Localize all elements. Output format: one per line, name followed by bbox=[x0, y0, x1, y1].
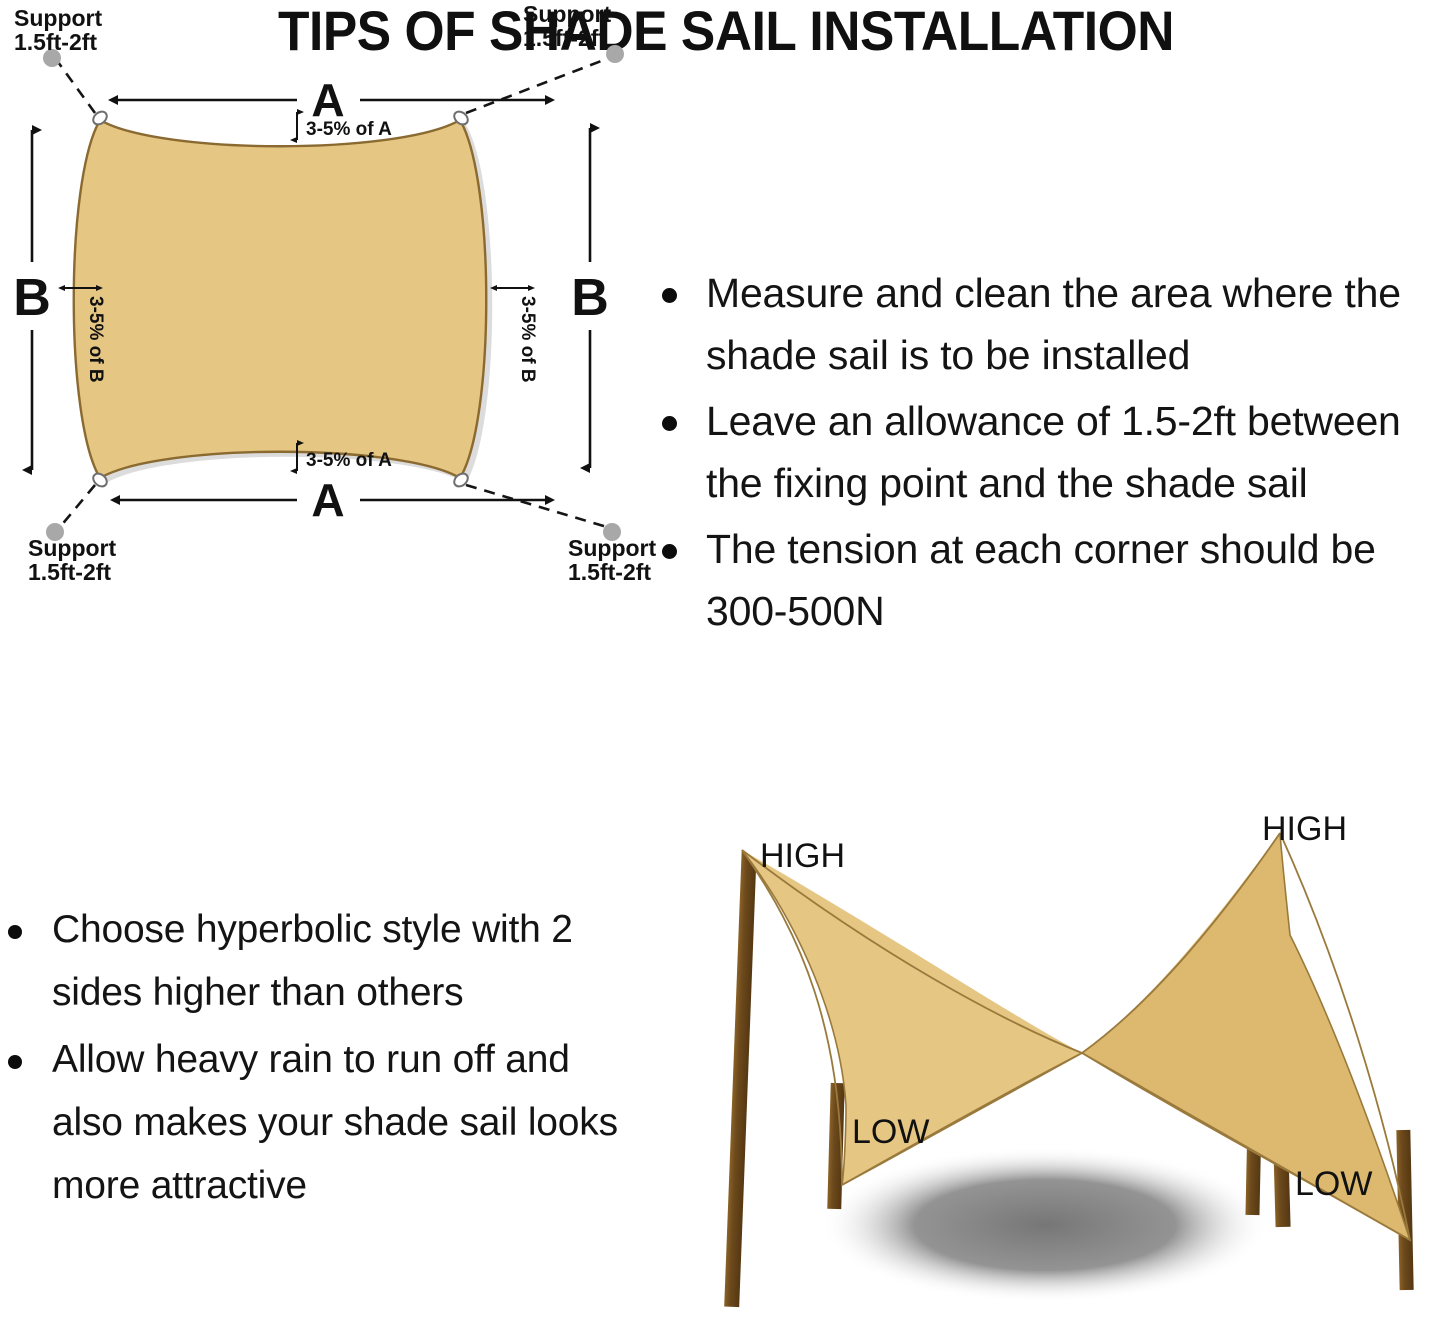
support-caption-line2: 1.5ft-2ft bbox=[14, 29, 97, 55]
leader-line bbox=[60, 485, 95, 527]
dimension-label-a-bottom: A bbox=[311, 474, 344, 526]
style-tips-panel: Choose hyperbolic style with 2 sides hig… bbox=[0, 898, 630, 1221]
support-caption-line1: Support bbox=[28, 535, 116, 561]
support-dot bbox=[606, 45, 624, 63]
support-caption-top-left: Support 1.5ft-2ft bbox=[14, 5, 102, 55]
curve-note-bottom-label: 3-5% of A bbox=[306, 450, 392, 471]
rectangular-sail-diagram: A 3-5% of A A 3-5% of A B 3-5% of B bbox=[0, 0, 660, 580]
list-item: The tension at each corner should be 300… bbox=[648, 518, 1452, 642]
installation-tips-list: Measure and clean the area where the sha… bbox=[648, 262, 1452, 642]
dimension-label-b-left: B bbox=[13, 269, 51, 327]
leader-line bbox=[58, 62, 95, 113]
list-item: Measure and clean the area where the sha… bbox=[648, 262, 1452, 386]
tip-text: The tension at each corner should be 300… bbox=[706, 526, 1376, 634]
style-tip-text: Choose hyperbolic style with 2 sides hig… bbox=[52, 908, 573, 1014]
curve-note-right: 3-5% of B bbox=[497, 288, 538, 383]
bullet-icon bbox=[662, 544, 677, 559]
label-low-left: LOW bbox=[852, 1113, 929, 1151]
dimension-width-bottom: A bbox=[120, 474, 545, 526]
style-tips-list: Choose hyperbolic style with 2 sides hig… bbox=[0, 898, 630, 1217]
hyperbolic-sail-diagram: HIGH HIGH LOW LOW bbox=[650, 785, 1452, 1325]
bullet-icon bbox=[8, 1055, 22, 1069]
support-caption-top-right: Support 1.5ft-2ft bbox=[523, 1, 611, 51]
shade-sail-shape bbox=[74, 120, 493, 483]
support-caption-line2: 1.5ft-2ft bbox=[523, 25, 606, 51]
post bbox=[724, 847, 757, 1307]
curve-note-right-label: 3-5% of B bbox=[517, 296, 538, 383]
leader-line bbox=[466, 485, 607, 527]
post-high-left bbox=[724, 847, 757, 1307]
dimension-height-right: B bbox=[571, 128, 609, 468]
support-caption-line1: Support bbox=[14, 5, 102, 31]
list-item: Leave an allowance of 1.5-2ft between th… bbox=[648, 390, 1452, 514]
sail-fabric bbox=[74, 120, 487, 478]
list-item: Choose hyperbolic style with 2 sides hig… bbox=[0, 898, 630, 1024]
bullet-icon bbox=[8, 925, 22, 939]
dimension-label-b-right: B bbox=[571, 269, 609, 327]
support-caption-line2: 1.5ft-2ft bbox=[568, 559, 651, 585]
installation-tips-panel: Measure and clean the area where the sha… bbox=[648, 262, 1452, 646]
post bbox=[827, 1083, 845, 1209]
dimension-height-left: B bbox=[13, 130, 51, 470]
tip-text: Leave an allowance of 1.5-2ft between th… bbox=[706, 398, 1401, 506]
post-low-left bbox=[827, 1083, 845, 1209]
tip-text: Measure and clean the area where the sha… bbox=[706, 270, 1401, 378]
support-caption-bottom-left: Support 1.5ft-2ft bbox=[28, 535, 116, 585]
style-tip-text: Allow heavy rain to run off and also mak… bbox=[52, 1038, 618, 1207]
label-high-right: HIGH bbox=[1262, 810, 1347, 848]
support-caption-line2: 1.5ft-2ft bbox=[28, 559, 111, 585]
support-caption-bottom-right: Support 1.5ft-2ft bbox=[568, 535, 656, 585]
support-caption-line1: Support bbox=[523, 1, 611, 27]
list-item: Allow heavy rain to run off and also mak… bbox=[0, 1028, 630, 1217]
leader-line bbox=[466, 58, 609, 113]
curve-note-top-label: 3-5% of A bbox=[306, 119, 392, 140]
curve-note-left: 3-5% of B bbox=[65, 288, 106, 383]
label-low-right: LOW bbox=[1295, 1165, 1372, 1203]
ground-shadow bbox=[820, 1147, 1270, 1303]
bullet-icon bbox=[662, 416, 677, 431]
label-high-left: HIGH bbox=[760, 837, 845, 875]
support-caption-line1: Support bbox=[568, 535, 656, 561]
curve-note-left-label: 3-5% of B bbox=[85, 296, 106, 383]
bullet-icon bbox=[662, 288, 677, 303]
